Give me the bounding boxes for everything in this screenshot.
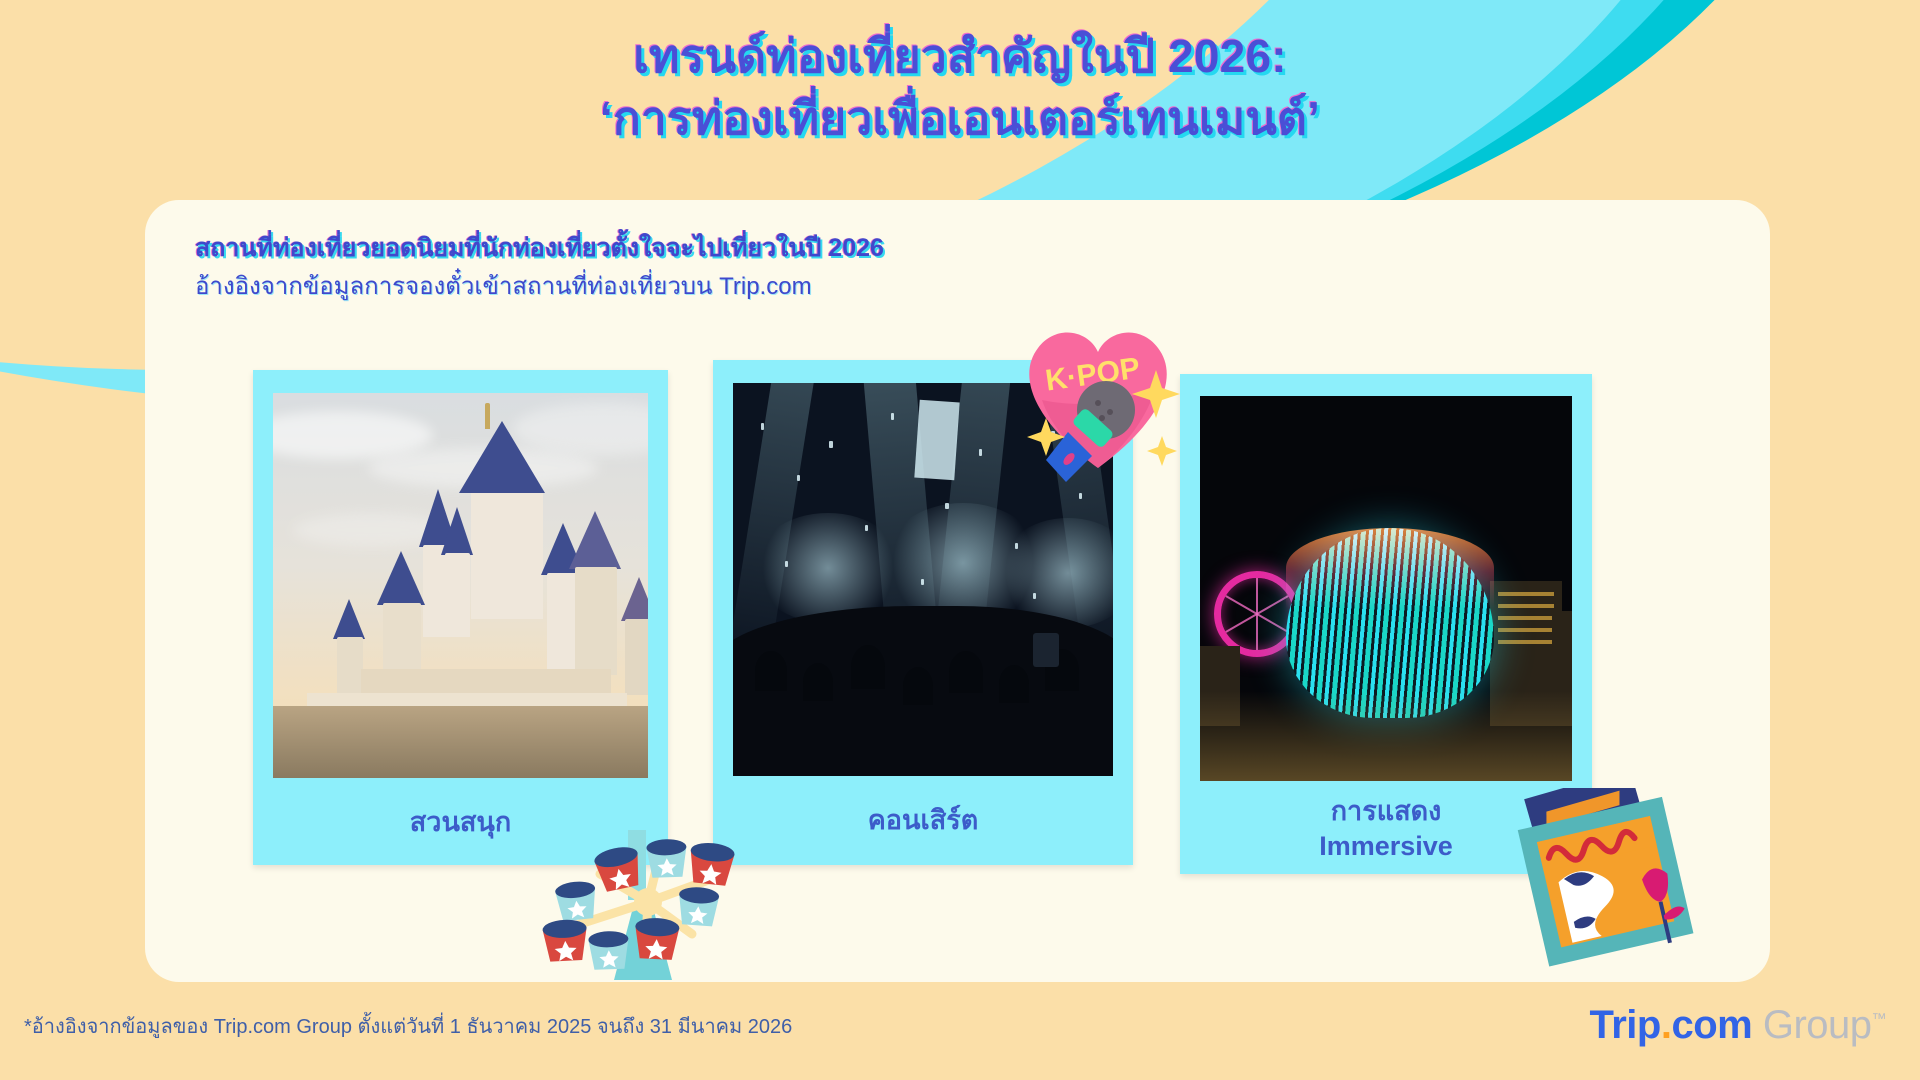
ride-hub-icon <box>634 888 662 916</box>
logo-trip: Trip <box>1589 1003 1660 1047</box>
page-title: เทรนด์ท่องเที่ยวสำคัญในปี 2026: ‘การท่อง… <box>0 26 1920 149</box>
title-line-1: เทรนด์ท่องเที่ยวสำคัญในปี 2026: <box>0 26 1920 88</box>
castle-theme-park-photo <box>273 393 648 778</box>
kpop-sticker: K·POP <box>1010 300 1185 485</box>
panel-subheading: อ้างอิงจากข้อมูลการจองตั๋วเข้าสถานที่ท่อ… <box>195 268 884 306</box>
footer-note: *อ้างอิงจากข้อมูลของ Trip.com Group ตั้ง… <box>24 1010 792 1042</box>
card-amusement-park[interactable]: สวนสนุก <box>253 370 668 865</box>
logo-group: Group <box>1763 1003 1872 1047</box>
logo-trademark: ™ <box>1872 1011 1887 1028</box>
card-list: สวนสนุก <box>253 360 1673 900</box>
title-line-2: ‘การท่องเที่ยวเพื่อเอนเตอร์เทนเมนต์’ <box>0 88 1920 150</box>
logo-com: com <box>1671 1003 1752 1047</box>
postcard-sticker <box>1505 788 1710 973</box>
trip-com-group-logo[interactable]: Trip.com Group™ <box>1589 1003 1886 1048</box>
logo-dot: . <box>1661 1003 1672 1047</box>
card-caption: คอนเสิร์ต <box>713 803 1133 838</box>
card-caption-line-1: คอนเสิร์ต <box>713 803 1133 838</box>
panel-heading: สถานที่ท่องเที่ยวยอดนิยมที่นักท่องเที่ยว… <box>195 230 884 268</box>
las-vegas-sphere-photo <box>1200 396 1572 781</box>
carnival-ride-sticker <box>540 830 760 985</box>
panel-header: สถานที่ท่องเที่ยวยอดนิยมที่นักท่องเที่ยว… <box>195 230 884 306</box>
